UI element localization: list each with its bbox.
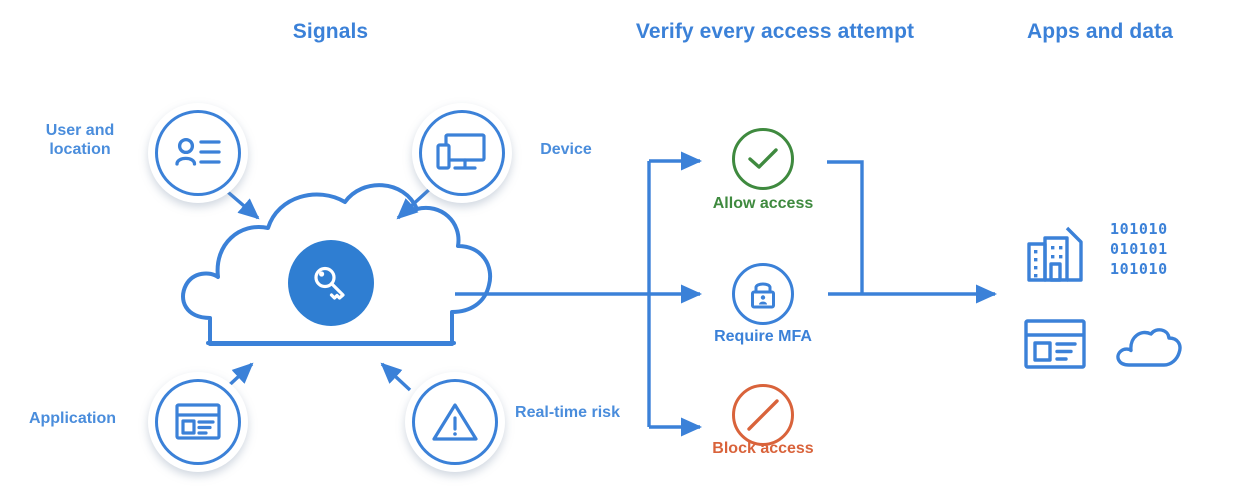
signal-ring xyxy=(155,379,241,465)
outcome-label-require-mfa: Require MFA xyxy=(663,328,863,346)
no-entry-icon[interactable] xyxy=(732,384,794,446)
signal-label-user-and-location: User and location xyxy=(20,121,140,159)
warning-triangle-icon xyxy=(431,400,479,444)
signal-label-application: Application xyxy=(10,409,135,428)
signal-label-real-time-risk: Real-time risk xyxy=(515,403,620,422)
column-header-signals: Signals xyxy=(238,19,423,44)
signal-ring xyxy=(412,379,498,465)
column-header-verify: Verify every access attempt xyxy=(625,19,925,44)
signal-ring xyxy=(155,110,241,196)
signal-application[interactable] xyxy=(148,372,248,472)
merge-allow-branch xyxy=(827,162,862,294)
key-badge xyxy=(288,240,374,326)
arrow-device-to-cloud xyxy=(398,187,432,218)
app-window-icon xyxy=(1023,318,1087,377)
binary-data-icon: 101010 010101 101010 xyxy=(1110,222,1168,276)
contact-card-icon xyxy=(173,133,223,173)
arrow-risk-to-cloud xyxy=(382,364,410,390)
cloud-icon xyxy=(1112,325,1184,374)
signal-label-device: Device xyxy=(520,140,612,159)
binary-line-2: 010101 xyxy=(1110,242,1168,256)
padlock-person-icon[interactable] xyxy=(732,263,794,325)
on-premises-buildings-icon xyxy=(1023,222,1089,293)
outcome-label-block-access: Block access xyxy=(663,440,863,458)
zero-trust-diagram: Signals Verify every access attempt Apps… xyxy=(0,0,1240,498)
check-circle-icon[interactable] xyxy=(732,128,794,190)
monitor-phone-icon xyxy=(436,131,488,175)
app-window-icon xyxy=(174,402,222,442)
signal-real-time-risk[interactable] xyxy=(405,372,505,472)
key-icon xyxy=(307,259,355,307)
binary-line-3: 101010 xyxy=(1110,262,1168,276)
signal-user-and-location[interactable] xyxy=(148,103,248,203)
column-header-apps: Apps and data xyxy=(1000,19,1200,44)
signal-device[interactable] xyxy=(412,103,512,203)
signal-ring xyxy=(419,110,505,196)
binary-line-1: 101010 xyxy=(1110,222,1168,236)
outcome-label-allow-access: Allow access xyxy=(663,195,863,213)
